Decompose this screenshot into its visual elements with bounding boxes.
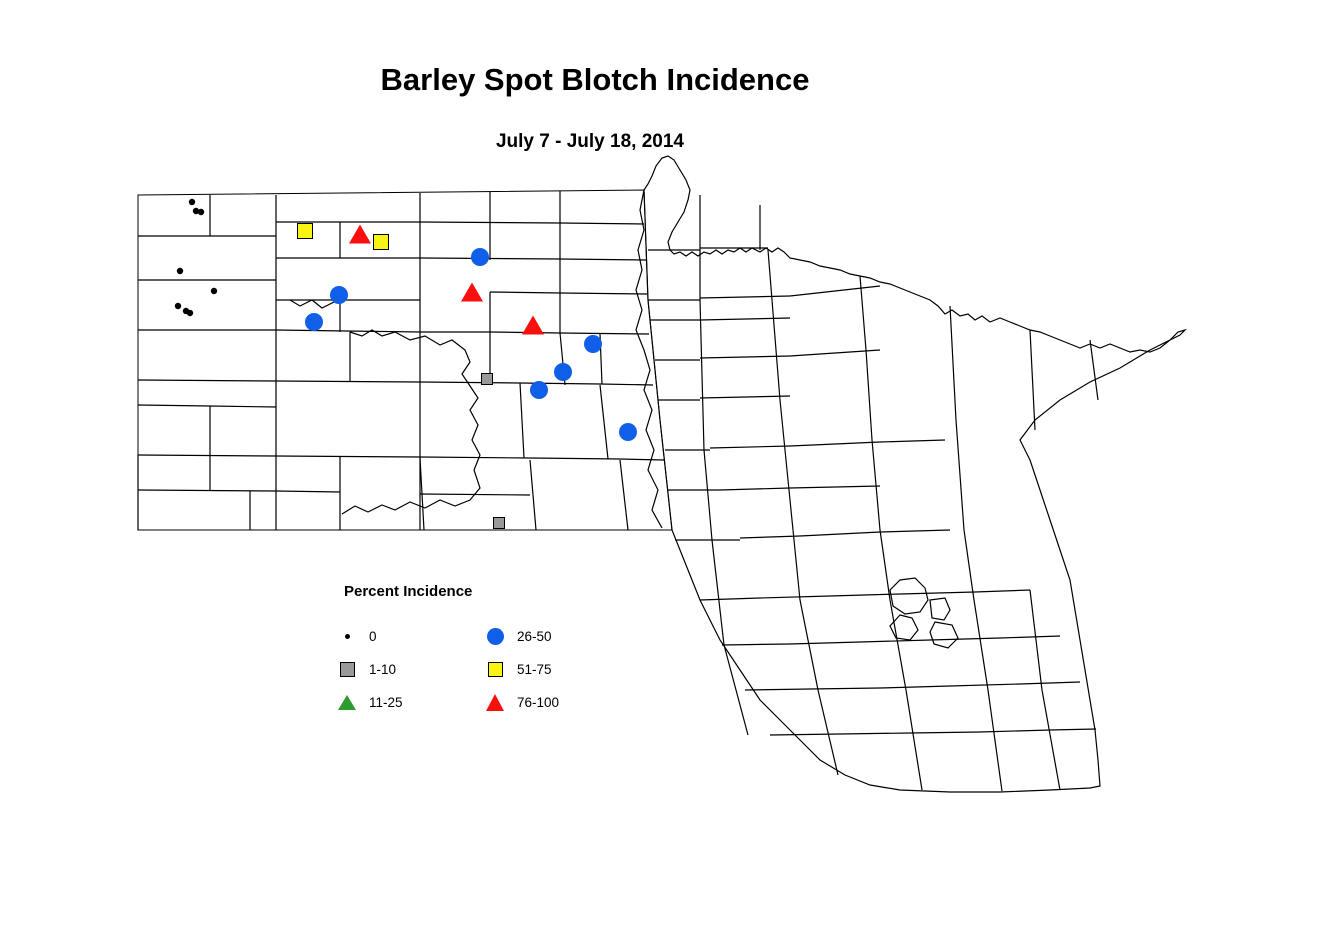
legend-symbol-gray-square-icon [330, 662, 364, 677]
map-marker-26-50 [554, 363, 572, 381]
legend-column-right: 26-50 51-75 76-100 [478, 620, 559, 719]
map-page: Barley Spot Blotch Incidence July 7 - Ju… [0, 0, 1341, 926]
legend-label-1-10: 1-10 [364, 662, 396, 677]
map-marker-26-50 [471, 248, 489, 266]
map-marker-26-50 [619, 423, 637, 441]
legend-item-0[interactable]: 0 [330, 620, 478, 653]
legend-symbol-green-triangle-icon [330, 695, 364, 710]
map-marker-0 [211, 288, 217, 294]
legend-label-76-100: 76-100 [512, 695, 559, 710]
legend-item-11-25[interactable]: 11-25 [330, 686, 478, 719]
north-dakota-counties [138, 190, 672, 530]
map-canvas [0, 0, 1341, 926]
map-marker-26-50 [530, 381, 548, 399]
state-county-map [0, 0, 1341, 926]
map-marker-0 [189, 199, 195, 205]
map-marker-0 [177, 268, 183, 274]
map-marker-0 [175, 303, 181, 309]
map-marker-1-10 [482, 374, 493, 385]
map-marker-26-50 [305, 313, 323, 331]
legend-symbol-red-triangle-icon [478, 694, 512, 711]
map-marker-26-50 [330, 286, 348, 304]
legend-item-51-75[interactable]: 51-75 [478, 653, 559, 686]
legend-symbol-yellow-square-icon [478, 662, 512, 677]
legend-title: Percent Incidence [344, 583, 630, 600]
legend-label-51-75: 51-75 [512, 662, 552, 677]
legend-symbol-dot-icon [330, 634, 364, 639]
minnesota-counties [636, 156, 1185, 792]
legend-symbol-blue-circle-icon [478, 628, 512, 645]
map-marker-1-10 [494, 518, 505, 529]
map-legend: Percent Incidence 0 1-10 11-25 [330, 583, 630, 719]
legend-column-left: 0 1-10 11-25 [330, 620, 478, 719]
legend-label-11-25: 11-25 [364, 695, 403, 710]
map-marker-51-75 [298, 224, 313, 239]
map-marker-51-75 [374, 235, 389, 250]
legend-label-0: 0 [364, 629, 377, 644]
legend-item-76-100[interactable]: 76-100 [478, 686, 559, 719]
map-marker-0 [198, 209, 204, 215]
legend-item-26-50[interactable]: 26-50 [478, 620, 559, 653]
map-marker-26-50 [584, 335, 602, 353]
legend-item-1-10[interactable]: 1-10 [330, 653, 478, 686]
map-marker-0 [187, 310, 193, 316]
legend-label-26-50: 26-50 [512, 629, 552, 644]
